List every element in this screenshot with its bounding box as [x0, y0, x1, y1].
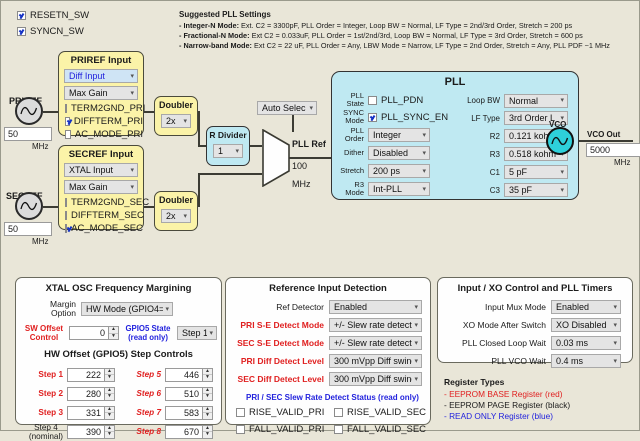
chevron-down-icon: [235, 148, 239, 155]
pri-se-detect-mode-value: +/- Slew rate detect: [334, 320, 412, 330]
priref-doubler-panel: Doubler 2x: [154, 96, 198, 136]
ref-detector-value: Enabled: [334, 302, 367, 312]
chevron-down-icon: [209, 330, 213, 337]
loop-bw-row: Loop BW Normal: [460, 92, 576, 109]
vco-out-unit: MHz: [614, 158, 630, 167]
pri-se-detect-mode-select[interactable]: +/- Slew rate detect: [329, 318, 422, 332]
pll-panel: PLL PLLState PLL_PDN SYNCMode PLL_SYNC_E…: [331, 71, 579, 200]
rise-valid-pri-row[interactable]: RISE_VALID_PRI: [236, 407, 334, 418]
wire-mux-to-pll: [289, 157, 331, 159]
step-6-label: Step 6: [136, 389, 161, 398]
pll-order-label: PLLOrder: [336, 127, 364, 143]
pri-se-detect-mode-label: PRI S-E Detect Mode: [226, 320, 324, 330]
secref-frequency-input[interactable]: 50: [4, 222, 52, 236]
chevron-down-icon: [560, 187, 564, 194]
fall-valid-sec-label: FALL_VALID_SEC: [347, 424, 426, 435]
suggested-line-1-mode: - Integer-N Mode:: [179, 21, 239, 30]
hw-offset-steps-title: HW Offset (GPIO5) Step Controls: [16, 349, 221, 360]
chevron-down-icon: [422, 186, 426, 193]
margin-option-select[interactable]: HW Mode (GPIO4=L): [81, 302, 173, 316]
input-mux-shape[interactable]: [262, 129, 290, 189]
ref-detector-select[interactable]: Enabled: [329, 300, 422, 314]
pll-stretch-row: Stretch 200 ps: [336, 162, 458, 180]
step-8-input[interactable]: 670: [165, 425, 203, 439]
ref-detector-label: Ref Detector: [226, 302, 324, 312]
input-mux-select[interactable]: Auto Selec: [257, 101, 317, 115]
pll-pdn-checkbox-icon[interactable]: [368, 96, 377, 105]
pll-sync-mode-row: SYNCMode PLL_SYNC_EN: [336, 108, 458, 126]
step-row-5: Step 5 446 ▲▼: [119, 365, 219, 384]
vco-out-label: VCO Out: [587, 130, 620, 139]
term2gnd-pri-label: TERM2GND_PRI: [71, 103, 145, 114]
chevron-down-icon: [130, 90, 134, 97]
priref-doubler-value: 2x: [166, 116, 176, 126]
step-row-2: Step 2 280 ▲▼: [16, 384, 119, 403]
suggested-line-2-mode: - Fractional-N Mode:: [179, 31, 250, 40]
secref-term2gnd-checkbox-row[interactable]: TERM2GND_SEC: [65, 197, 143, 208]
secref-input-type-value: XTAL Input: [69, 165, 113, 175]
priref-input-type-value: Diff Input: [69, 71, 105, 81]
secref-input-panel: SECREF Input XTAL Input Max Gain TERM2GN…: [58, 145, 144, 230]
gpio5-state-select[interactable]: Step 1: [177, 326, 217, 340]
spinner-down-icon[interactable]: ▼: [105, 432, 114, 438]
pll-ref-unit: MHz: [292, 179, 311, 189]
pll-ref-value: 100: [292, 161, 307, 171]
c1-select[interactable]: 5 pF: [504, 165, 568, 179]
r-divider-value: 1: [218, 146, 223, 156]
step-row-7: Step 7 583 ▲▼: [119, 403, 219, 422]
step-2-label: Step 2: [38, 389, 63, 398]
chevron-down-icon: [560, 169, 564, 176]
register-type-readonly: - READ ONLY Register (blue): [444, 411, 570, 422]
global-switches: RESETN_SW SYNCN_SW: [17, 10, 89, 37]
r2-label: R2: [460, 132, 500, 141]
step-3-spinner[interactable]: ▲▼: [105, 406, 115, 420]
step-row-6: Step 6 510 ▲▼: [119, 384, 219, 403]
stretch-label: Stretch: [336, 167, 364, 175]
secref-doubler-value: 2x: [166, 211, 176, 221]
input-mux-mode-row: Input Mux Mode Enabled: [438, 300, 632, 314]
rise-valid-sec-label: RISE_VALID_SEC: [347, 407, 426, 418]
checkbox-resetn-sw[interactable]: RESETN_SW: [17, 10, 89, 21]
pll-order-row: PLLOrder Integer: [336, 126, 458, 144]
spinner-down-icon[interactable]: ▼: [105, 413, 114, 419]
priref-oscillator-icon: [15, 97, 43, 125]
pri-diff-detect-level-row: PRI Diff Detect Level 300 mVpp Diff swin…: [226, 354, 430, 368]
secref-doubler-select[interactable]: 2x: [161, 209, 191, 223]
vco-out-input[interactable]: 5000: [586, 143, 640, 157]
xtal-title: XTAL OSC Frequency Margining: [16, 283, 221, 294]
wire-pri-vertical: [198, 111, 200, 146]
rise-valid-sec-checkbox-icon[interactable]: [334, 408, 343, 417]
gpio5-state-value: Step 1: [182, 328, 207, 338]
slew-rate-status-title: PRI / SEC Slew Rate Detect Status (read …: [246, 393, 430, 402]
sw-offset-label: SW OffsetControl: [22, 324, 66, 342]
xo-mode-after-switch-value: XO Disabled: [556, 320, 607, 330]
xo-control-panel: Input / XO Control and PLL Timers Input …: [437, 277, 633, 363]
fall-valid-pri-label: FALL_VALID_PRI: [249, 424, 324, 435]
diffterm-sec-checkbox-icon[interactable]: [65, 211, 67, 220]
priref-diffterm-checkbox-row[interactable]: DIFFTERM_PRI: [65, 116, 143, 127]
chevron-down-icon: [165, 306, 169, 313]
secref-doubler-panel: Doubler 2x: [154, 191, 198, 231]
fall-valid-sec-row[interactable]: FALL_VALID_SEC: [334, 424, 426, 435]
c1-value: 5 pF: [509, 167, 527, 177]
stretch-select[interactable]: 200 ps: [368, 164, 430, 178]
chevron-down-icon: [414, 322, 418, 329]
sec-se-detect-mode-value: +/- Slew rate detect: [334, 338, 412, 348]
chevron-down-icon: [414, 340, 418, 347]
step-7-input[interactable]: 583: [165, 406, 203, 420]
priref-doubler-select[interactable]: 2x: [161, 114, 191, 128]
chevron-down-icon: [422, 150, 426, 157]
wire-priref-osc: [43, 111, 59, 113]
priref-frequency-input[interactable]: 50: [4, 127, 52, 141]
r3-mode-label: R3Mode: [336, 181, 364, 197]
pll-sync-en-checkbox-row[interactable]: PLL_SYNC_EN: [368, 112, 448, 123]
priref-term2gnd-checkbox-row[interactable]: TERM2GND_PRI: [65, 103, 143, 114]
step-7-label: Step 7: [136, 408, 161, 417]
sec-se-detect-mode-label: SEC S-E Detect Mode: [226, 338, 324, 348]
pll-closed-loop-wait-row: PLL Closed Loop Wait 0.03 ms: [438, 336, 632, 350]
step-6-spinner[interactable]: ▲▼: [203, 387, 213, 401]
ac-mode-pri-checkbox-icon[interactable]: [65, 130, 71, 139]
chevron-down-icon: [414, 358, 418, 365]
pll-title: PLL: [332, 76, 578, 88]
priref-panel-title: PRIREF Input: [59, 55, 143, 66]
xo-control-title: Input / XO Control and PLL Timers: [438, 283, 632, 294]
vco-oscillator-icon: [546, 127, 574, 155]
sw-offset-input[interactable]: 0: [69, 326, 109, 340]
sec-diff-detect-level-select[interactable]: 300 mVpp Diff swing: [329, 372, 422, 386]
secref-acmode-checkbox-row[interactable]: AC_MODE_SEC: [65, 223, 143, 234]
step-1-spinner[interactable]: ▲▼: [105, 368, 115, 382]
xo-mode-after-switch-label: XO Mode After Switch: [438, 320, 546, 330]
chevron-down-icon: [422, 168, 426, 175]
dither-label: Dither: [336, 149, 364, 157]
step-row-8: Step 8 670 ▲▼: [119, 422, 219, 441]
syncn-sw-label: SYNCN_SW: [30, 26, 84, 37]
r-divider-panel: R Divider 1: [206, 126, 250, 166]
spinner-down-icon[interactable]: ▼: [203, 413, 212, 419]
secref-frequency-unit: MHz: [32, 237, 48, 246]
sec-diff-detect-level-label: SEC Diff Detect Level: [226, 374, 324, 384]
r-divider-title: R Divider: [207, 130, 249, 140]
pll-sync-en-label: PLL_SYNC_EN: [381, 112, 448, 123]
pri-diff-detect-level-value: 300 mVpp Diff swing: [334, 356, 412, 366]
loop-bw-value: Normal: [509, 96, 538, 106]
step-8-spinner[interactable]: ▲▼: [203, 425, 213, 439]
lf-type-label: LF Type: [460, 114, 500, 123]
suggested-line-1: - Integer-N Mode: Ext. C2 = 3300pF, PLL …: [179, 21, 639, 31]
rise-valid-sec-row[interactable]: RISE_VALID_SEC: [334, 407, 426, 418]
priref-input-panel: PRIREF Input Diff Input Max Gain TERM2GN…: [58, 51, 144, 136]
reference-input-detection-panel: Reference Input Detection Ref Detector E…: [225, 277, 431, 425]
syncn-sw-checkbox-icon[interactable]: [17, 27, 26, 36]
chevron-down-icon: [422, 132, 426, 139]
priref-gain-select[interactable]: Max Gain: [64, 86, 138, 100]
step-7-spinner[interactable]: ▲▼: [203, 406, 213, 420]
input-mux-value: Auto Selec: [262, 103, 306, 113]
sec-se-detect-mode-row: SEC S-E Detect Mode +/- Slew rate detect: [226, 336, 430, 350]
priref-acmode-checkbox-row[interactable]: AC_MODE_PRI: [65, 129, 143, 140]
step-row-3: Step 3 331 ▲▼: [16, 403, 119, 422]
r3-mode-value: Int-PLL: [373, 184, 402, 194]
resetn-sw-checkbox-icon[interactable]: [17, 11, 26, 20]
chevron-down-icon: [183, 213, 187, 220]
fall-valid-sec-checkbox-icon[interactable]: [334, 425, 343, 434]
spinner-down-icon[interactable]: ▼: [203, 375, 212, 381]
step-2-spinner[interactable]: ▲▼: [105, 387, 115, 401]
margin-option-row: MarginOption HW Mode (GPIO4=L): [34, 300, 221, 318]
loop-bw-label: Loop BW: [460, 96, 500, 105]
pri-se-detect-mode-row: PRI S-E Detect Mode +/- Slew rate detect: [226, 318, 430, 332]
ref-detector-row: Ref Detector Enabled: [226, 300, 430, 314]
pll-r3mode-row: R3Mode Int-PLL: [336, 180, 458, 198]
step-4-input[interactable]: 390: [67, 425, 105, 439]
diffterm-pri-checkbox-icon[interactable]: [65, 117, 70, 126]
xo-mode-after-switch-select[interactable]: XO Disabled: [551, 318, 621, 332]
pri-diff-detect-level-select[interactable]: 300 mVpp Diff swing: [329, 354, 422, 368]
margin-option-value: HW Mode (GPIO4=L): [86, 304, 163, 314]
secref-panel-title: SECREF Input: [59, 149, 143, 160]
chevron-down-icon: [183, 118, 187, 125]
pll-vco-wait-label: PLL VCO Wait: [438, 356, 546, 366]
pll-dither-row: Dither Disabled: [336, 144, 458, 162]
step-2-input[interactable]: 280: [67, 387, 105, 401]
sec-diff-detect-level-value: 300 mVpp Diff swing: [334, 374, 412, 384]
gpio5-state-label: GPIO5 State(read only): [121, 324, 175, 342]
step-row-4: Step 4(nominal) 390 ▲▼: [16, 422, 119, 441]
diffterm-sec-label: DIFFTERM_SEC: [71, 210, 144, 221]
chevron-down-icon: [613, 304, 617, 311]
secref-oscillator-icon: [15, 192, 43, 220]
chevron-down-icon: [613, 322, 617, 329]
sync-mode-label: SYNCMode: [336, 109, 364, 125]
step-5-label: Step 5: [136, 370, 161, 379]
step-4-label: Step 4(nominal): [29, 423, 63, 441]
wire-mux-select: [292, 114, 294, 132]
step-4-spinner[interactable]: ▲▼: [105, 425, 115, 439]
wire-sec-vertical: [198, 173, 200, 207]
term2gnd-sec-label: TERM2GND_SEC: [71, 197, 149, 208]
suggested-title: Suggested PLL Settings: [179, 10, 639, 19]
suggested-line-1-text: Ext. C2 = 3300pF, PLL Order = Integer, L…: [239, 21, 572, 30]
checkbox-syncn-sw[interactable]: SYNCN_SW: [17, 26, 89, 37]
priref-input-type-select[interactable]: Diff Input: [64, 69, 138, 83]
spinner-down-icon[interactable]: ▼: [203, 432, 212, 438]
term2gnd-pri-checkbox-icon[interactable]: [65, 104, 67, 113]
wire-secref-osc: [43, 206, 59, 208]
term2gnd-sec-checkbox-icon[interactable]: [65, 198, 67, 207]
step-8-label: Step 8: [136, 427, 161, 436]
step-1-input[interactable]: 222: [67, 368, 105, 382]
chevron-down-icon: [130, 167, 134, 174]
chevron-down-icon: [560, 97, 564, 104]
loop-bw-select[interactable]: Normal: [504, 94, 568, 108]
app-root: RESETN_SW SYNCN_SW Suggested PLL Setting…: [0, 0, 640, 431]
sec-diff-detect-level-row: SEC Diff Detect Level 300 mVpp Diff swin…: [226, 372, 430, 386]
diffterm-pri-label: DIFFTERM_PRI: [74, 116, 143, 127]
secref-doubler-title: Doubler: [155, 195, 197, 205]
pll-vco-wait-select[interactable]: 0.4 ms: [551, 354, 621, 368]
priref-gain-value: Max Gain: [69, 88, 108, 98]
spinner-down-icon[interactable]: ▼: [109, 334, 118, 340]
pll-sync-en-checkbox-icon[interactable]: [368, 113, 377, 122]
suggested-line-2: - Fractional-N Mode: Ext C2 = 0.033uF, P…: [179, 31, 639, 41]
step-5-spinner[interactable]: ▲▼: [203, 368, 213, 382]
secref-gain-value: Max Gain: [69, 182, 108, 192]
suggested-line-2-text: Ext C2 = 0.033uF, PLL Order = 1st/2nd/3r…: [250, 31, 583, 40]
step-6-input[interactable]: 510: [165, 387, 203, 401]
pll-closed-loop-wait-value: 0.03 ms: [556, 338, 588, 348]
pll-state-row: PLLState PLL_PDN: [336, 92, 458, 108]
dither-value: Disabled: [373, 148, 408, 158]
fall-valid-pri-row[interactable]: FALL_VALID_PRI: [236, 424, 334, 435]
register-types-title: Register Types: [444, 377, 570, 387]
step-5-input[interactable]: 446: [165, 368, 203, 382]
sw-offset-spinner[interactable]: ▲▼: [109, 326, 119, 340]
c3-value: 35 pF: [509, 185, 532, 195]
c1-row: C1 5 pF: [460, 163, 576, 181]
input-mux-mode-select[interactable]: Enabled: [551, 300, 621, 314]
chevron-down-icon: [414, 304, 418, 311]
fall-valid-pri-checkbox-icon[interactable]: [236, 425, 245, 434]
step-3-label: Step 3: [38, 408, 63, 417]
pll-closed-loop-wait-select[interactable]: 0.03 ms: [551, 336, 621, 350]
chevron-down-icon: [309, 105, 313, 112]
chevron-down-icon: [130, 73, 134, 80]
spinner-down-icon[interactable]: ▼: [203, 394, 212, 400]
pll-state-label: PLLState: [336, 92, 364, 108]
c3-row: C3 35 pF: [460, 181, 576, 199]
pll-vco-wait-row: PLL VCO Wait 0.4 ms: [438, 354, 632, 368]
wire-rdiv-mux-lower: [198, 173, 262, 175]
c3-select[interactable]: 35 pF: [504, 183, 568, 197]
secref-gain-select[interactable]: Max Gain: [64, 180, 138, 194]
spinner-down-icon[interactable]: ▼: [105, 375, 114, 381]
r3-mode-select[interactable]: Int-PLL: [368, 182, 430, 196]
sw-offset-row: SW OffsetControl 0 ▲▼ GPIO5 State(read o…: [22, 324, 221, 342]
pll-vco-wait-value: 0.4 ms: [556, 356, 583, 366]
suggested-line-3: - Narrow-band Mode: Ext C2 = 22 uF, PLL …: [179, 41, 639, 51]
register-types-legend: Register Types - EEPROM BASE Register (r…: [444, 377, 570, 422]
rise-valid-pri-checkbox-icon[interactable]: [236, 408, 245, 417]
step-3-input[interactable]: 331: [67, 406, 105, 420]
chevron-down-icon: [613, 358, 617, 365]
suggested-settings: Suggested PLL Settings - Integer-N Mode:…: [179, 10, 639, 51]
secref-input-type-select[interactable]: XTAL Input: [64, 163, 138, 177]
ac-mode-sec-label: AC_MODE_SEC: [71, 223, 143, 234]
suggested-line-3-text: Ext C2 = 22 uF, PLL Order = Any, LBW Mod…: [252, 41, 610, 50]
r3-label: R3: [460, 150, 500, 159]
chevron-down-icon: [414, 376, 418, 383]
suggested-line-3-mode: - Narrow-band Mode:: [179, 41, 252, 50]
xtal-osc-panel: XTAL OSC Frequency Margining MarginOptio…: [15, 277, 222, 425]
step-1-label: Step 1: [38, 370, 63, 379]
chevron-down-icon: [613, 340, 617, 347]
priref-doubler-title: Doubler: [155, 100, 197, 110]
dither-select[interactable]: Disabled: [368, 146, 430, 160]
pll-order-value: Integer: [373, 130, 401, 140]
resetn-sw-label: RESETN_SW: [30, 10, 89, 21]
chevron-down-icon: [130, 184, 134, 191]
ac-mode-sec-checkbox-icon[interactable]: [65, 224, 67, 233]
register-type-page: - EEPROM PAGE Register (black): [444, 400, 570, 411]
rise-valid-pri-label: RISE_VALID_PRI: [249, 407, 324, 418]
pll-closed-loop-wait-label: PLL Closed Loop Wait: [438, 338, 546, 348]
pll-pdn-checkbox-row[interactable]: PLL_PDN: [368, 95, 423, 106]
sec-se-detect-mode-select[interactable]: +/- Slew rate detect: [329, 336, 422, 350]
secref-diffterm-checkbox-row[interactable]: DIFFTERM_SEC: [65, 210, 143, 221]
r-divider-select[interactable]: 1: [213, 144, 243, 158]
pll-order-select[interactable]: Integer: [368, 128, 430, 142]
step-row-1: Step 1 222 ▲▼: [16, 365, 119, 384]
margin-option-label: MarginOption: [34, 300, 76, 318]
stretch-value: 200 ps: [373, 166, 400, 176]
ac-mode-pri-label: AC_MODE_PRI: [75, 129, 143, 140]
spinner-down-icon[interactable]: ▼: [105, 394, 114, 400]
input-mux-mode-label: Input Mux Mode: [438, 302, 546, 312]
register-type-base: - EEPROM BASE Register (red): [444, 389, 570, 400]
priref-frequency-unit: MHz: [32, 142, 48, 151]
xo-mode-after-switch-row: XO Mode After Switch XO Disabled: [438, 318, 632, 332]
pll-pdn-label: PLL_PDN: [381, 95, 423, 106]
pri-diff-detect-level-label: PRI Diff Detect Level: [226, 356, 324, 366]
refdet-title: Reference Input Detection: [226, 283, 430, 294]
input-mux-mode-value: Enabled: [556, 302, 589, 312]
c1-label: C1: [460, 168, 500, 177]
pll-ref-label: PLL Ref: [292, 139, 326, 149]
wire-rdiv-out: [250, 145, 262, 147]
c3-label: C3: [460, 186, 500, 195]
